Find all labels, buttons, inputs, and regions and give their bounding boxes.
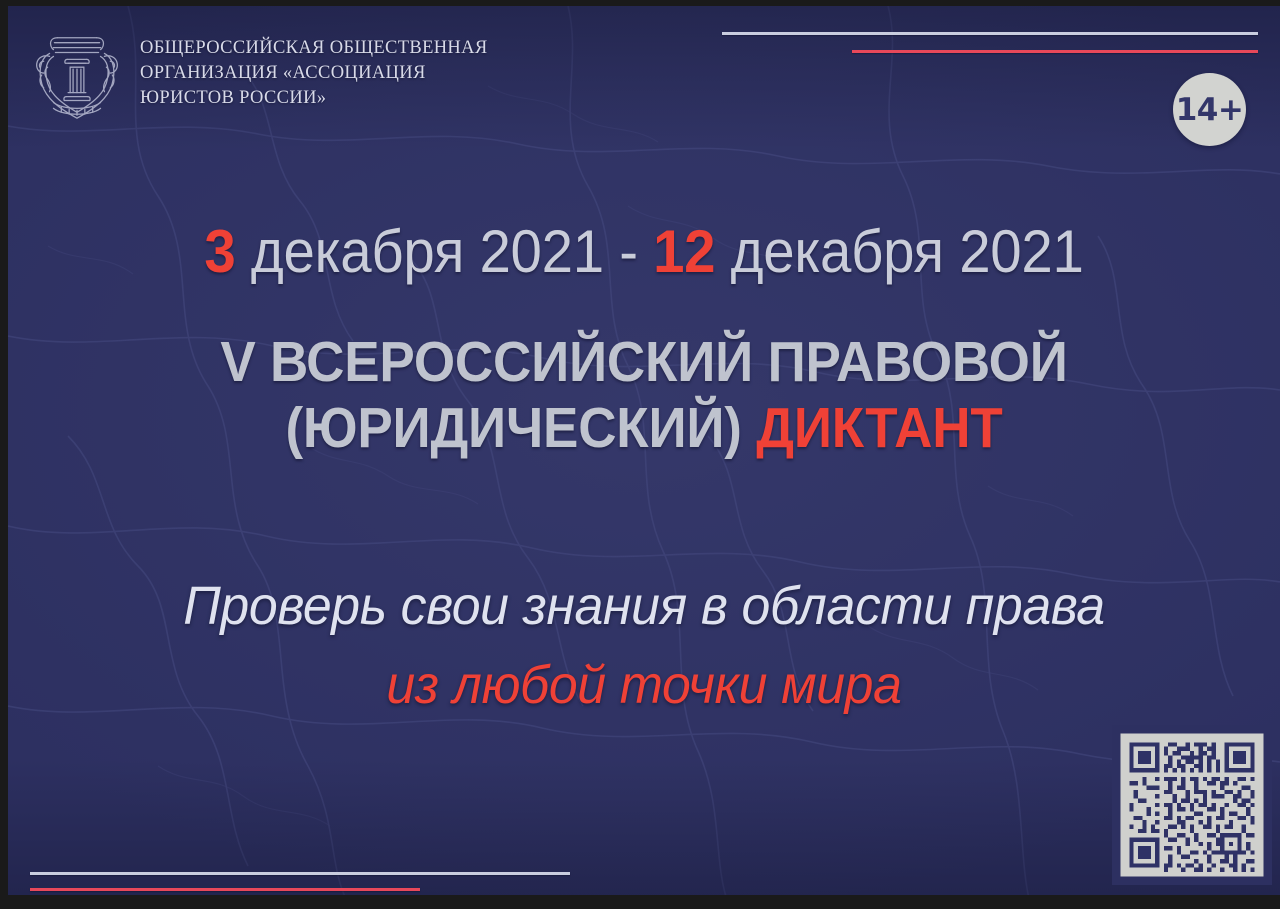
- age-rating-label: 14+: [1176, 92, 1244, 128]
- event-tagline-line-1: Проверь свои знания в области права: [33, 567, 1254, 646]
- event-title: V ВСЕРОССИЙСКИЙ ПРАВОВОЙ (ЮРИДИЧЕСКИЙ) Д…: [53, 329, 1236, 461]
- poster-content: 3 декабря 2021 - 12 декабря 2021 V ВСЕРО…: [8, 6, 1280, 903]
- age-rating-badge: 14+: [1173, 73, 1246, 146]
- event-title-line-1: V ВСЕРОССИЙСКИЙ ПРАВОВОЙ: [53, 329, 1236, 395]
- event-dates: 3 декабря 2021 - 12 декабря 2021: [46, 219, 1242, 285]
- date-start-day: 3: [204, 218, 235, 285]
- date-end-day: 12: [653, 218, 715, 285]
- date-end-rest: декабря 2021: [715, 218, 1083, 285]
- qr-code[interactable]: [1112, 725, 1272, 885]
- qr-code-image[interactable]: [1112, 725, 1272, 885]
- poster-canvas: ОБЩЕРОССИЙСКАЯ ОБЩЕСТВЕННАЯ ОРГАНИЗАЦИЯ …: [8, 6, 1280, 903]
- event-tagline-line-2: из любой точки мира: [33, 646, 1254, 725]
- event-title-line-2-plain: (ЮРИДИЧЕСКИЙ): [285, 396, 756, 460]
- event-title-line-2: (ЮРИДИЧЕСКИЙ) ДИКТАНТ: [53, 395, 1236, 461]
- date-start-rest: декабря 2021: [236, 218, 620, 285]
- event-tagline: Проверь свои знания в области права из л…: [33, 567, 1254, 725]
- event-title-line-2-accent: ДИКТАНТ: [756, 396, 1002, 460]
- date-separator: -: [619, 218, 653, 285]
